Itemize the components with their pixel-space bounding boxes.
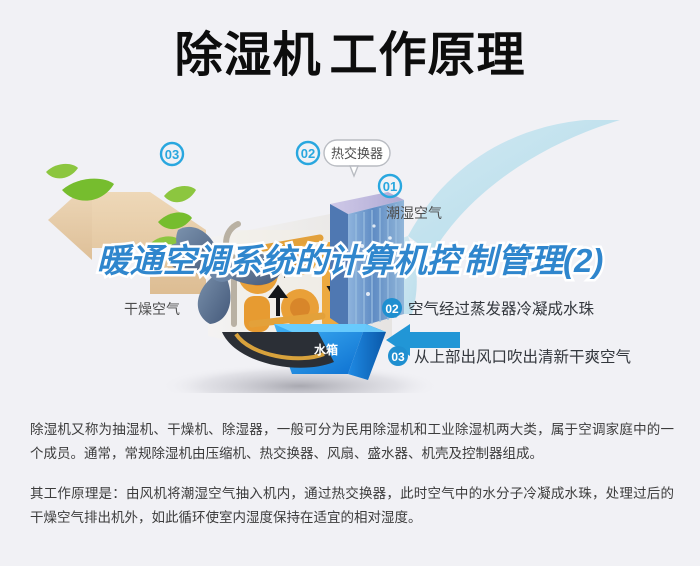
humid-air-curve [408, 120, 620, 254]
article-paragraph-1: 除湿机又称为抽湿机、干燥机、除湿器，一般可分为民用除湿机和工业除湿机两大类，属于… [30, 418, 674, 466]
article-body: 除湿机又称为抽湿机、干燥机、除湿器，一般可分为民用除湿机和工业除湿机两大类，属于… [30, 418, 674, 530]
leaf-icon [164, 186, 196, 202]
dehumidifier-infographic-page: 除湿机工作原理 [0, 0, 700, 566]
callout-01-humid-air: 01 潮湿空气 [379, 175, 442, 221]
page-title-part2: 工作原理 [330, 29, 526, 82]
step-03-text: 从上部出风口吹出清新干爽空气 [414, 348, 631, 366]
leaf-icon [46, 164, 78, 178]
step-02-row: 02 空气经过蒸发器冷凝成水珠 [382, 298, 595, 318]
water-tank-label: 水箱 [314, 342, 338, 357]
page-title-part1: 除湿机 [174, 29, 321, 82]
step-02-text: 空气经过蒸发器冷凝成水珠 [408, 300, 595, 318]
callout-02-label: 热交换器 [331, 146, 383, 161]
article-paragraph-2: 其工作原理是：由风机将潮湿空气抽入机内，通过热交换器，此时空气中的水分子冷凝成水… [30, 482, 674, 530]
dehumidifier-diagram: 03 干燥空气 02 热交换器 01 潮湿空气 水箱 [0, 118, 700, 393]
badge-02-text: 02 [301, 146, 315, 161]
badge-01-text: 01 [383, 179, 397, 194]
callout-02-heat-exchanger: 02 热交换器 [297, 140, 390, 176]
badge-03-text: 03 [165, 147, 179, 162]
callout-03-label: 干燥空气 [124, 301, 180, 317]
step-02-badge-text: 02 [385, 302, 399, 316]
step-03-badge-text: 03 [391, 350, 405, 364]
step-03-row: 03 从上部出风口吹出清新干爽空气 [388, 346, 631, 366]
callout-02-bubble-pointer [350, 166, 358, 176]
callout-01-label: 潮湿空气 [386, 205, 442, 221]
page-title: 除湿机工作原理 [0, 30, 700, 83]
